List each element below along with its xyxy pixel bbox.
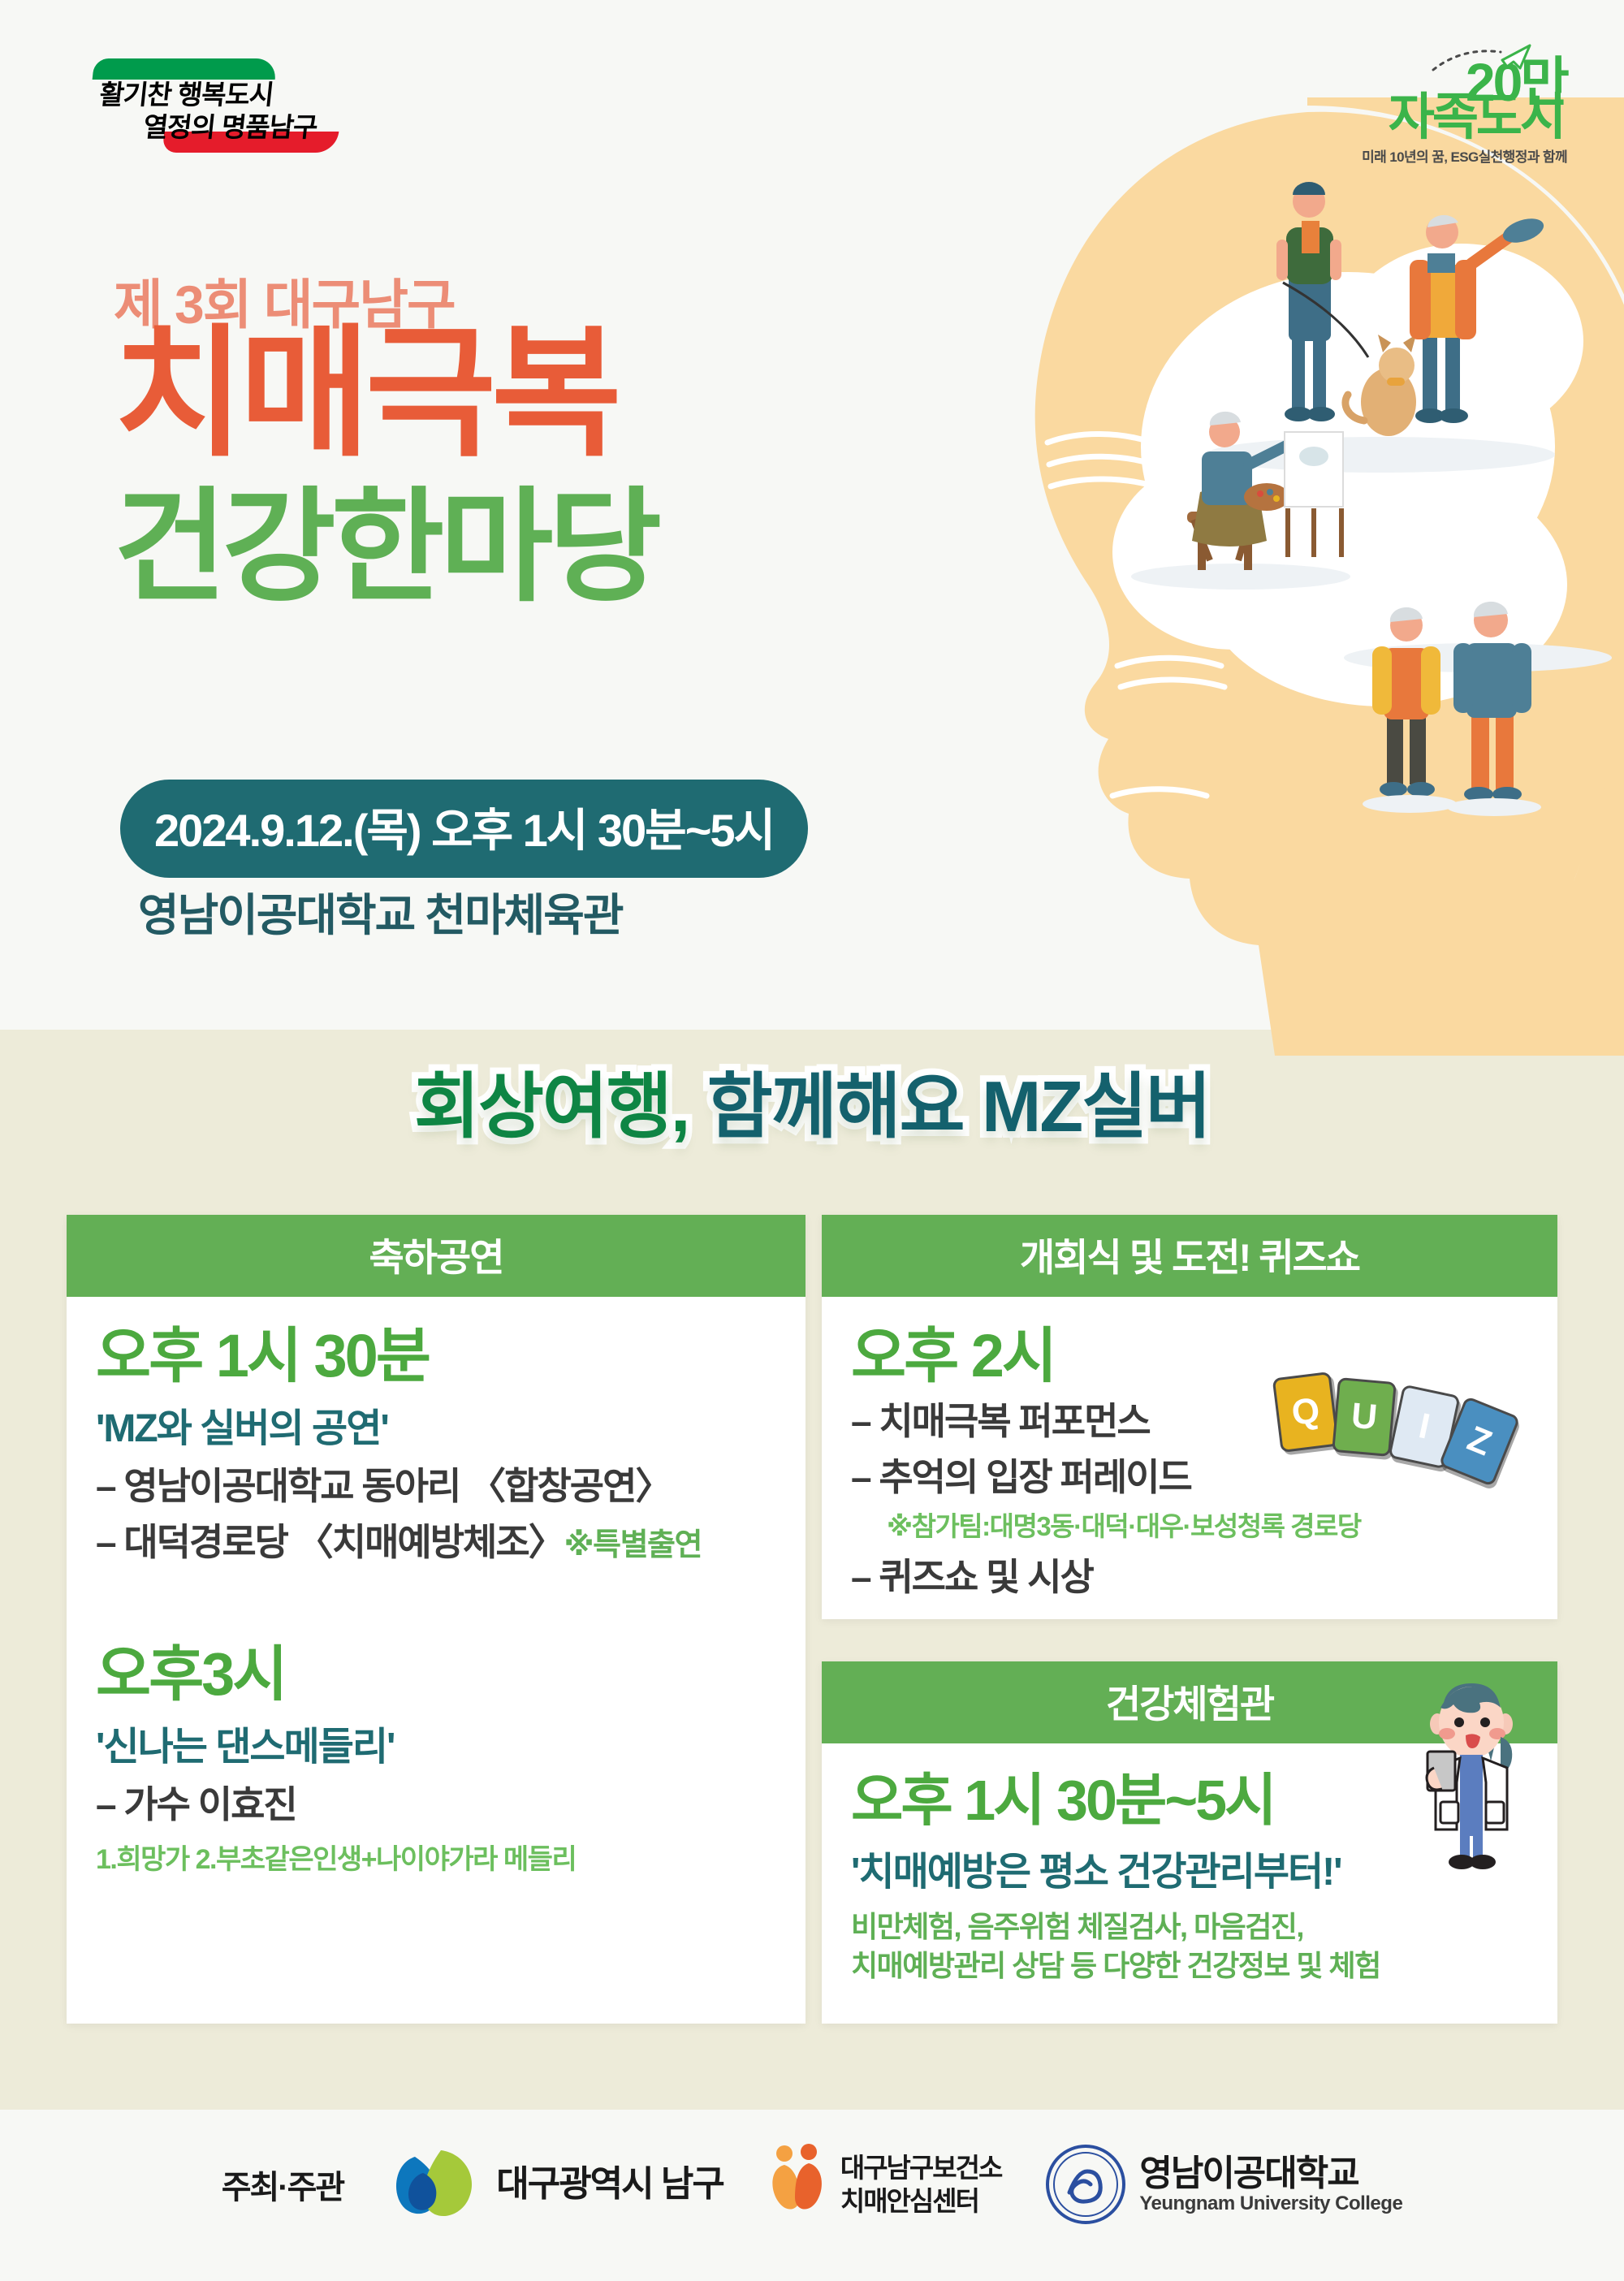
performance-time-2: 오후3시 [96, 1643, 776, 1706]
health-center-logo-icon [767, 2144, 827, 2225]
logo-namgu-health-center: 대구남구보건소 치매안심센터 [767, 2144, 1002, 2225]
performance-song-list: 1.희망가 2.부초같은인생+나이야가라 메들리 [96, 1837, 776, 1877]
quiz-participating-teams: ※참가팀:대명3동·대덕·대우·보성청록 경로당 [887, 1505, 1528, 1544]
poster-main-title-line2: 건강한마당 [114, 486, 657, 609]
health-description-line2: 치매예방관리 상담 등 다양한 건강정보 및 체험 [851, 1946, 1528, 1986]
logo-health-center-text: 대구남구보건소 치매안심센터 [840, 2151, 1002, 2218]
yeungnam-name-en: Yeungnam University College [1139, 2193, 1402, 2214]
performance-bullet-2-note: ※특별출연 [564, 1528, 702, 1562]
daegu-namgu-logo-icon [387, 2145, 483, 2223]
logo-yeungnam-text: 영남이공대학교 Yeungnam University College [1139, 2154, 1402, 2215]
emblem-right-subtitle: 미래 10년의 꿈, ESG실천행정과 함께 [1291, 145, 1567, 166]
card-celebration-performance: 축하공연 오후 1시 30분 'MZ와 실버의 공연' – 영남이공대학교 동아… [67, 1215, 806, 2024]
namgu-city-emblem: 활기찬 행복도시 열정의 명품남구 [85, 63, 353, 153]
paper-plane-icon [1429, 44, 1535, 78]
card-health-body: 오후 1시 30분~5시 '치매예방은 평소 건강관리부터!' 비만체험, 음주… [822, 1743, 1557, 2011]
logo-yeungnam-university-college: 영남이공대학교 Yeungnam University College [1045, 2144, 1402, 2225]
health-center-line2: 치매안심센터 [840, 2186, 978, 2216]
yeungnam-college-seal-icon [1045, 2144, 1126, 2225]
performance-section-2: 오후3시 '신나는 댄스메들리' – 가수 이효진 1.희망가 2.부초같은인생… [96, 1643, 776, 1877]
card-quiz-body: Q U I Z 오후 2시 – 치매극복 퍼포먼스 – 추억의 입장 퍼레이드 … [822, 1297, 1557, 1624]
event-tagline: 회상여행, 함께해요 MZ실버 [0, 1049, 1624, 1152]
emblem-right-big2: 자족도시 [1291, 95, 1564, 140]
logo-daegu-namgu: 대구광역시 남구 [387, 2145, 723, 2223]
footer-sponsors: 주최·주관 대구광역시 남구 대구남구보건소 치매안심센터 [0, 2144, 1624, 2225]
doctor-illustration [1390, 1674, 1553, 1877]
emblem-left-line2: 열정의 명품남구 [141, 106, 319, 145]
performance-quote-2: '신나는 댄스메들리' [96, 1714, 776, 1771]
performance-bullet-2-text: – 대덕경로당 〈치매예방체조〉 [96, 1521, 564, 1563]
yeungnam-name-ko: 영남이공대학교 [1139, 2154, 1358, 2193]
quiz-tile-q: Q [1272, 1372, 1340, 1453]
host-label: 주최·주관 [222, 2161, 344, 2208]
event-venue: 영남이공대학교 천마체육관 [138, 879, 622, 944]
event-datetime-badge: 2024.9.12.(목) 오후 1시 30분~5시 [120, 780, 808, 878]
card-quiz-header: 개회식 및 도전! 퀴즈쇼 [822, 1215, 1557, 1297]
performance-bullet-2: – 대덕경로당 〈치매예방체조〉※특별출연 [96, 1520, 776, 1565]
logo-daegu-namgu-text: 대구광역시 남구 [496, 2165, 723, 2204]
tagline-green-part: 회상여행, [414, 1066, 689, 1147]
quiz-tiles-illustration: Q U I Z [1276, 1368, 1520, 1490]
card-performance-body: 오후 1시 30분 'MZ와 실버의 공연' – 영남이공대학교 동아리 〈합창… [67, 1297, 806, 1901]
performance-quote-1: 'MZ와 실버의 공연' [96, 1396, 776, 1453]
quiz-bullet-3: – 퀴즈쇼 및 시상 [851, 1555, 1528, 1600]
quiz-tile-u: U [1332, 1377, 1397, 1457]
performance-bullet-1: – 영남이공대학교 동아리 〈합창공연〉 [96, 1464, 776, 1509]
tagline-teal-part: 함께해요 MZ실버 [707, 1066, 1210, 1147]
health-center-line1: 대구남구보건소 [840, 2153, 1002, 2183]
card-health-experience: 건강체험관 [822, 1661, 1557, 2024]
poster-main-title-line1: 치매극복 [114, 323, 617, 465]
health-description-line1: 비만체험, 음주위험 체질검사, 마음검진, [851, 1907, 1528, 1947]
head-silhouette-illustration [926, 97, 1624, 1056]
poster-root: 활기찬 행복도시 열정의 명품남구 20만 자족도시 미래 10년의 꿈, ES… [0, 0, 1624, 2281]
performance-bullet-3: – 가수 이효진 [96, 1782, 776, 1827]
card-performance-header: 축하공연 [67, 1215, 806, 1297]
self-sufficient-city-emblem: 20만 자족도시 미래 10년의 꿈, ESG실천행정과 함께 [1291, 58, 1567, 168]
performance-time-1: 오후 1시 30분 [96, 1324, 776, 1388]
card-opening-quizshow: 개회식 및 도전! 퀴즈쇼 Q U I Z 오후 2시 – 치매극복 퍼포먼스 … [822, 1215, 1557, 1619]
